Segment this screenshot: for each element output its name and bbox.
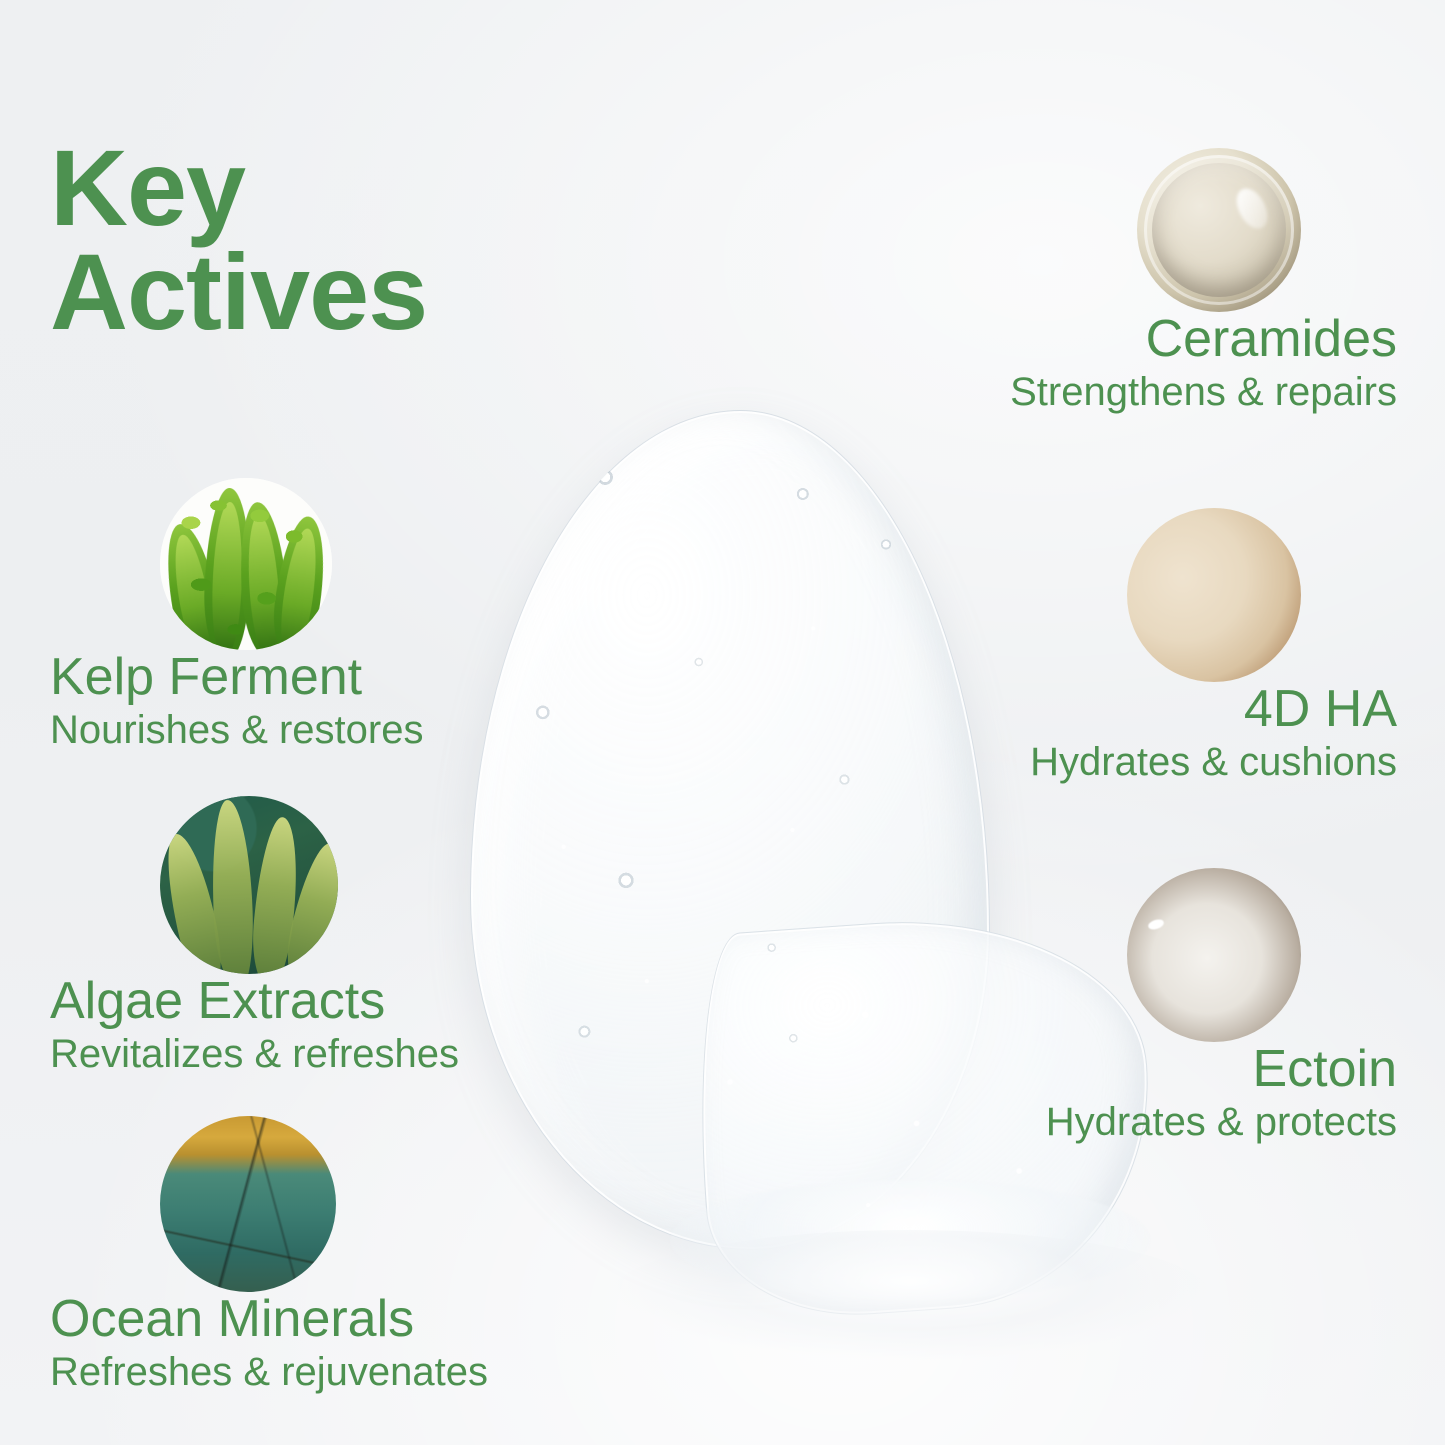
page-title-line-1: Key xyxy=(50,127,245,248)
ectoin-gel-icon xyxy=(1127,868,1301,1042)
page-title: Key Actives xyxy=(50,136,570,343)
ingredient-name: Ceramides xyxy=(937,312,1397,367)
ingredient-algae-extracts[interactable]: Algae Extracts Revitalizes & refreshes xyxy=(50,796,490,1076)
ingredient-name: Ectoin xyxy=(937,1042,1397,1097)
ingredient-desc: Nourishes & restores xyxy=(50,709,480,752)
ceramide-droplet-icon xyxy=(1137,148,1301,312)
algae-icon xyxy=(160,796,338,974)
ingredient-name: Kelp Ferment xyxy=(50,650,480,705)
ingredient-desc: Hydrates & protects xyxy=(937,1101,1397,1144)
ingredient-ocean-minerals[interactable]: Ocean Minerals Refreshes & rejuvenates xyxy=(50,1116,510,1394)
ingredient-name: Algae Extracts xyxy=(50,974,490,1029)
ingredient-name: 4D HA xyxy=(937,682,1397,737)
ingredient-desc: Refreshes & rejuvenates xyxy=(50,1351,510,1394)
kelp-seaweed-icon xyxy=(160,478,332,650)
ingredient-desc: Revitalizes & refreshes xyxy=(50,1033,490,1076)
hyaluronic-serum-icon xyxy=(1127,508,1301,682)
ingredient-name: Ocean Minerals xyxy=(50,1292,510,1347)
page-title-line-2: Actives xyxy=(50,240,570,344)
ingredient-4d-ha[interactable]: 4D HA Hydrates & cushions xyxy=(937,508,1397,784)
gel-surface-pool xyxy=(610,1230,1210,1360)
ocean-mineral-rock-icon xyxy=(160,1116,336,1292)
ingredient-ectoin[interactable]: Ectoin Hydrates & protects xyxy=(937,868,1397,1144)
ingredient-kelp-ferment[interactable]: Kelp Ferment Nourishes & restores xyxy=(50,478,480,752)
ingredient-ceramides[interactable]: Ceramides Strengthens & repairs xyxy=(937,148,1397,414)
ingredient-desc: Strengthens & repairs xyxy=(937,371,1397,414)
infographic-canvas: Key Actives Kelp Ferment Nourishes & res… xyxy=(0,0,1445,1445)
ingredient-desc: Hydrates & cushions xyxy=(937,741,1397,784)
